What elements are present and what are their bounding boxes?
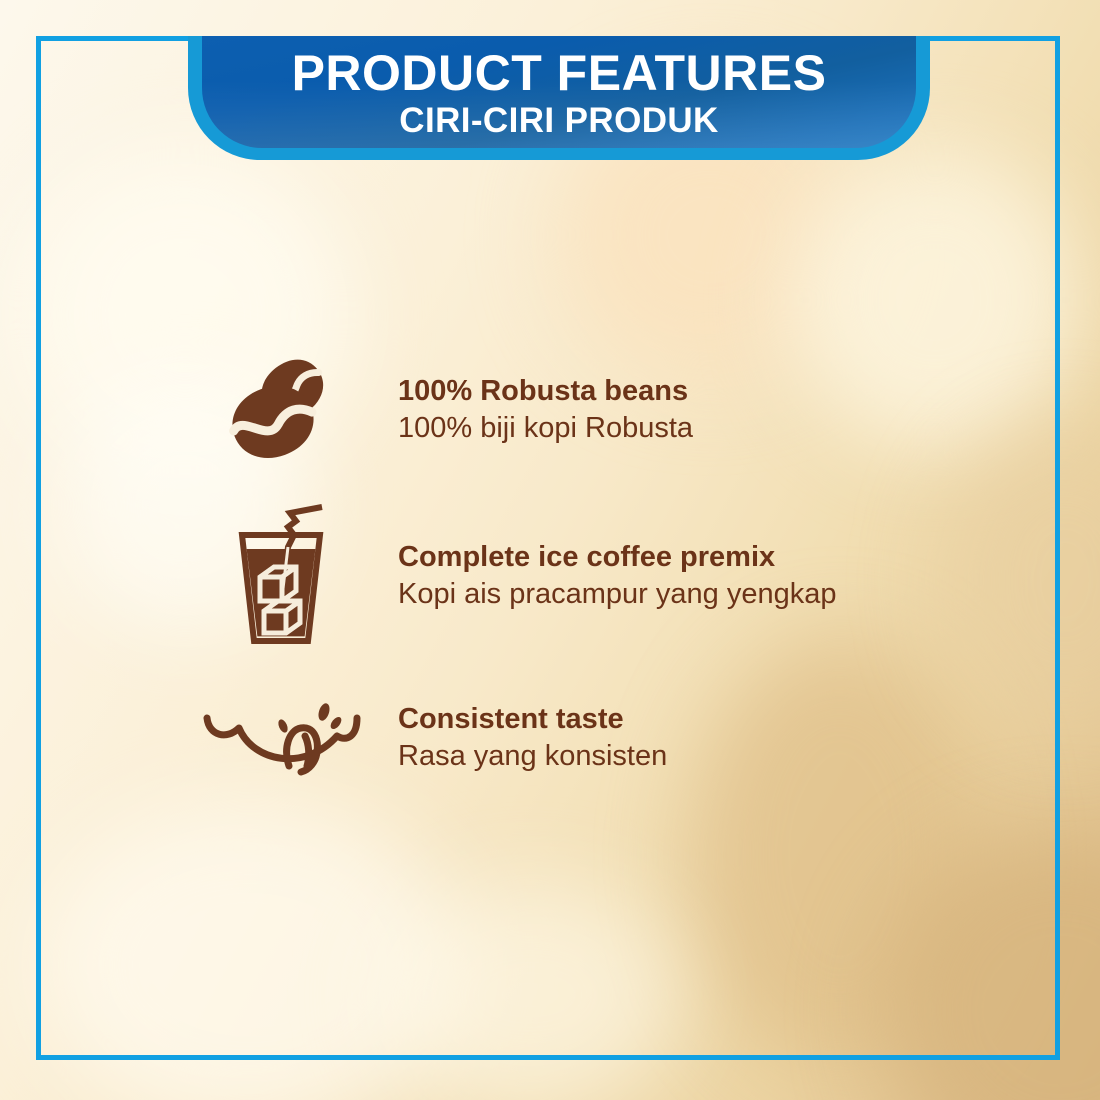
feature-subtitle: Rasa yang konsisten bbox=[398, 738, 667, 776]
list-item: Complete ice coffee premix Kopi ais prac… bbox=[196, 496, 956, 656]
feature-subtitle: 100% biji kopi Robusta bbox=[398, 410, 693, 448]
feature-subtitle: Kopi ais pracampur yang yengkap bbox=[398, 576, 836, 614]
coffee-beans-icon bbox=[196, 340, 366, 480]
tongue-taste-icon bbox=[196, 668, 366, 808]
product-features-poster: PRODUCT FEATURES CIRI-CIRI PRODUK bbox=[0, 0, 1100, 1100]
feature-title: 100% Robusta beans bbox=[398, 373, 693, 410]
feature-text: Consistent taste Rasa yang konsisten bbox=[366, 701, 667, 776]
page-subtitle: CIRI-CIRI PRODUK bbox=[399, 101, 718, 140]
feature-list: 100% Robusta beans 100% biji kopi Robust… bbox=[196, 330, 956, 818]
header-banner: PRODUCT FEATURES CIRI-CIRI PRODUK bbox=[188, 36, 930, 160]
feature-title: Consistent taste bbox=[398, 701, 667, 738]
feature-text: Complete ice coffee premix Kopi ais prac… bbox=[366, 539, 836, 614]
feature-text: 100% Robusta beans 100% biji kopi Robust… bbox=[366, 373, 693, 448]
list-item: Consistent taste Rasa yang konsisten bbox=[196, 658, 956, 818]
page-title: PRODUCT FEATURES bbox=[292, 48, 827, 100]
feature-title: Complete ice coffee premix bbox=[398, 539, 836, 576]
banner-text-block: PRODUCT FEATURES CIRI-CIRI PRODUK bbox=[188, 36, 930, 160]
list-item: 100% Robusta beans 100% biji kopi Robust… bbox=[196, 330, 956, 490]
iced-coffee-glass-icon bbox=[196, 506, 366, 646]
